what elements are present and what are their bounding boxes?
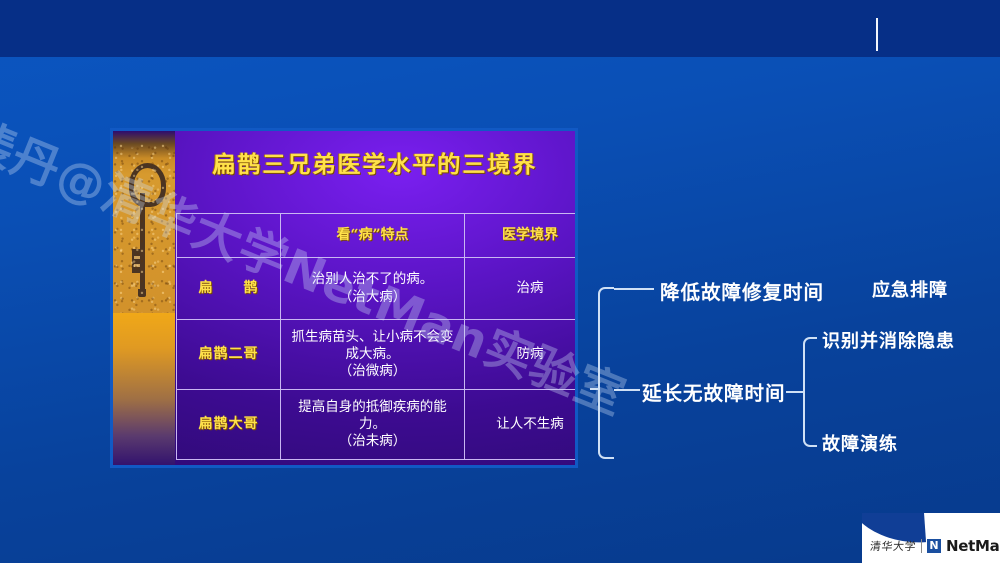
row-feature-sub: （治大病） bbox=[285, 289, 460, 306]
footer-logo-block: 清华大学 NetMan bbox=[862, 513, 1000, 563]
row-feature: 治别人治不了的病。 （治大病） bbox=[281, 258, 465, 320]
main-bracket bbox=[598, 287, 614, 459]
row-realm: 防病 bbox=[465, 320, 579, 390]
row-name: 扁鹊大哥 bbox=[177, 390, 281, 460]
sub-bracket bbox=[803, 337, 817, 447]
table-row: 扁鹊大哥 提高自身的抵御疾病的能力。 （治未病） 让人不生病 bbox=[177, 390, 579, 460]
main-bracket-stem bbox=[590, 388, 600, 390]
netman-wordmark: NetMan bbox=[946, 537, 1000, 555]
tsinghua-university-wordmark: 清华大学 bbox=[869, 538, 917, 554]
row-feature: 提高自身的抵御疾病的能力。 （治未病） bbox=[281, 390, 465, 460]
netman-logo-icon bbox=[927, 539, 941, 553]
row-name: 扁 鹊 bbox=[177, 258, 281, 320]
row-feature-main: 治别人治不了的病。 bbox=[312, 271, 434, 287]
slide-canvas: 扁鹊三兄弟医学水平的三境界 看“病”特点 医学境界 扁 鹊 治别人治不了的病。 … bbox=[0, 0, 1000, 563]
legacy-slide-image: 扁鹊三兄弟医学水平的三境界 看“病”特点 医学境界 扁 鹊 治别人治不了的病。 … bbox=[110, 128, 578, 468]
table-row: 扁 鹊 治别人治不了的病。 （治大病） 治病 bbox=[177, 258, 579, 320]
key-bow-icon bbox=[129, 163, 166, 207]
antique-key-photo bbox=[113, 131, 175, 313]
connector-extend bbox=[614, 389, 640, 391]
legacy-slide-title: 扁鹊三兄弟医学水平的三境界 bbox=[175, 145, 575, 179]
logo-divider bbox=[921, 539, 922, 553]
label-emergency-troubleshooting: 应急排障 bbox=[872, 276, 948, 302]
connector-reduce bbox=[614, 288, 654, 290]
key-gradient-strip bbox=[113, 313, 175, 468]
row-name: 扁鹊二哥 bbox=[177, 320, 281, 390]
row-feature-main: 抓生病苗头、让小病不会变成大病。 bbox=[292, 329, 454, 362]
row-feature: 抓生病苗头、让小病不会变成大病。 （治微病） bbox=[281, 320, 465, 390]
table-header-row: 看“病”特点 医学境界 bbox=[177, 214, 579, 258]
header-cell-blank bbox=[177, 214, 281, 258]
header-cell-realm: 医学境界 bbox=[465, 214, 579, 258]
row-realm: 让人不生病 bbox=[465, 390, 579, 460]
label-identify-eliminate-hazards: 识别并消除隐患 bbox=[822, 327, 955, 353]
label-extend-failure-free-time: 延长无故障时间 bbox=[642, 377, 786, 406]
row-realm: 治病 bbox=[465, 258, 579, 320]
key-shaft-icon bbox=[140, 193, 145, 293]
key-bit-icon bbox=[132, 249, 141, 273]
footer-logo-row: 清华大学 NetMan bbox=[870, 537, 1000, 555]
header-cell-feature: 看“病”特点 bbox=[281, 214, 465, 258]
row-feature-sub: （治微病） bbox=[285, 363, 460, 380]
row-feature-main: 提高自身的抵御疾病的能力。 bbox=[298, 399, 447, 432]
sub-bracket-stem bbox=[786, 391, 804, 393]
bracket-diagram: 降低故障修复时间 延长无故障时间 应急排障 识别并消除隐患 故障演练 bbox=[590, 255, 1000, 485]
table-row: 扁鹊二哥 抓生病苗头、让小病不会变成大病。 （治微病） 防病 bbox=[177, 320, 579, 390]
label-reduce-repair-time: 降低故障修复时间 bbox=[660, 276, 824, 305]
top-color-band bbox=[0, 0, 1000, 57]
bianque-table: 看“病”特点 医学境界 扁 鹊 治别人治不了的病。 （治大病） 治病 扁鹊二哥 … bbox=[176, 213, 578, 460]
label-failure-drill: 故障演练 bbox=[822, 430, 898, 456]
key-photo-column bbox=[113, 131, 175, 465]
top-tick-marker bbox=[876, 18, 878, 51]
row-feature-sub: （治未病） bbox=[285, 433, 460, 450]
key-tip-icon bbox=[138, 289, 146, 297]
